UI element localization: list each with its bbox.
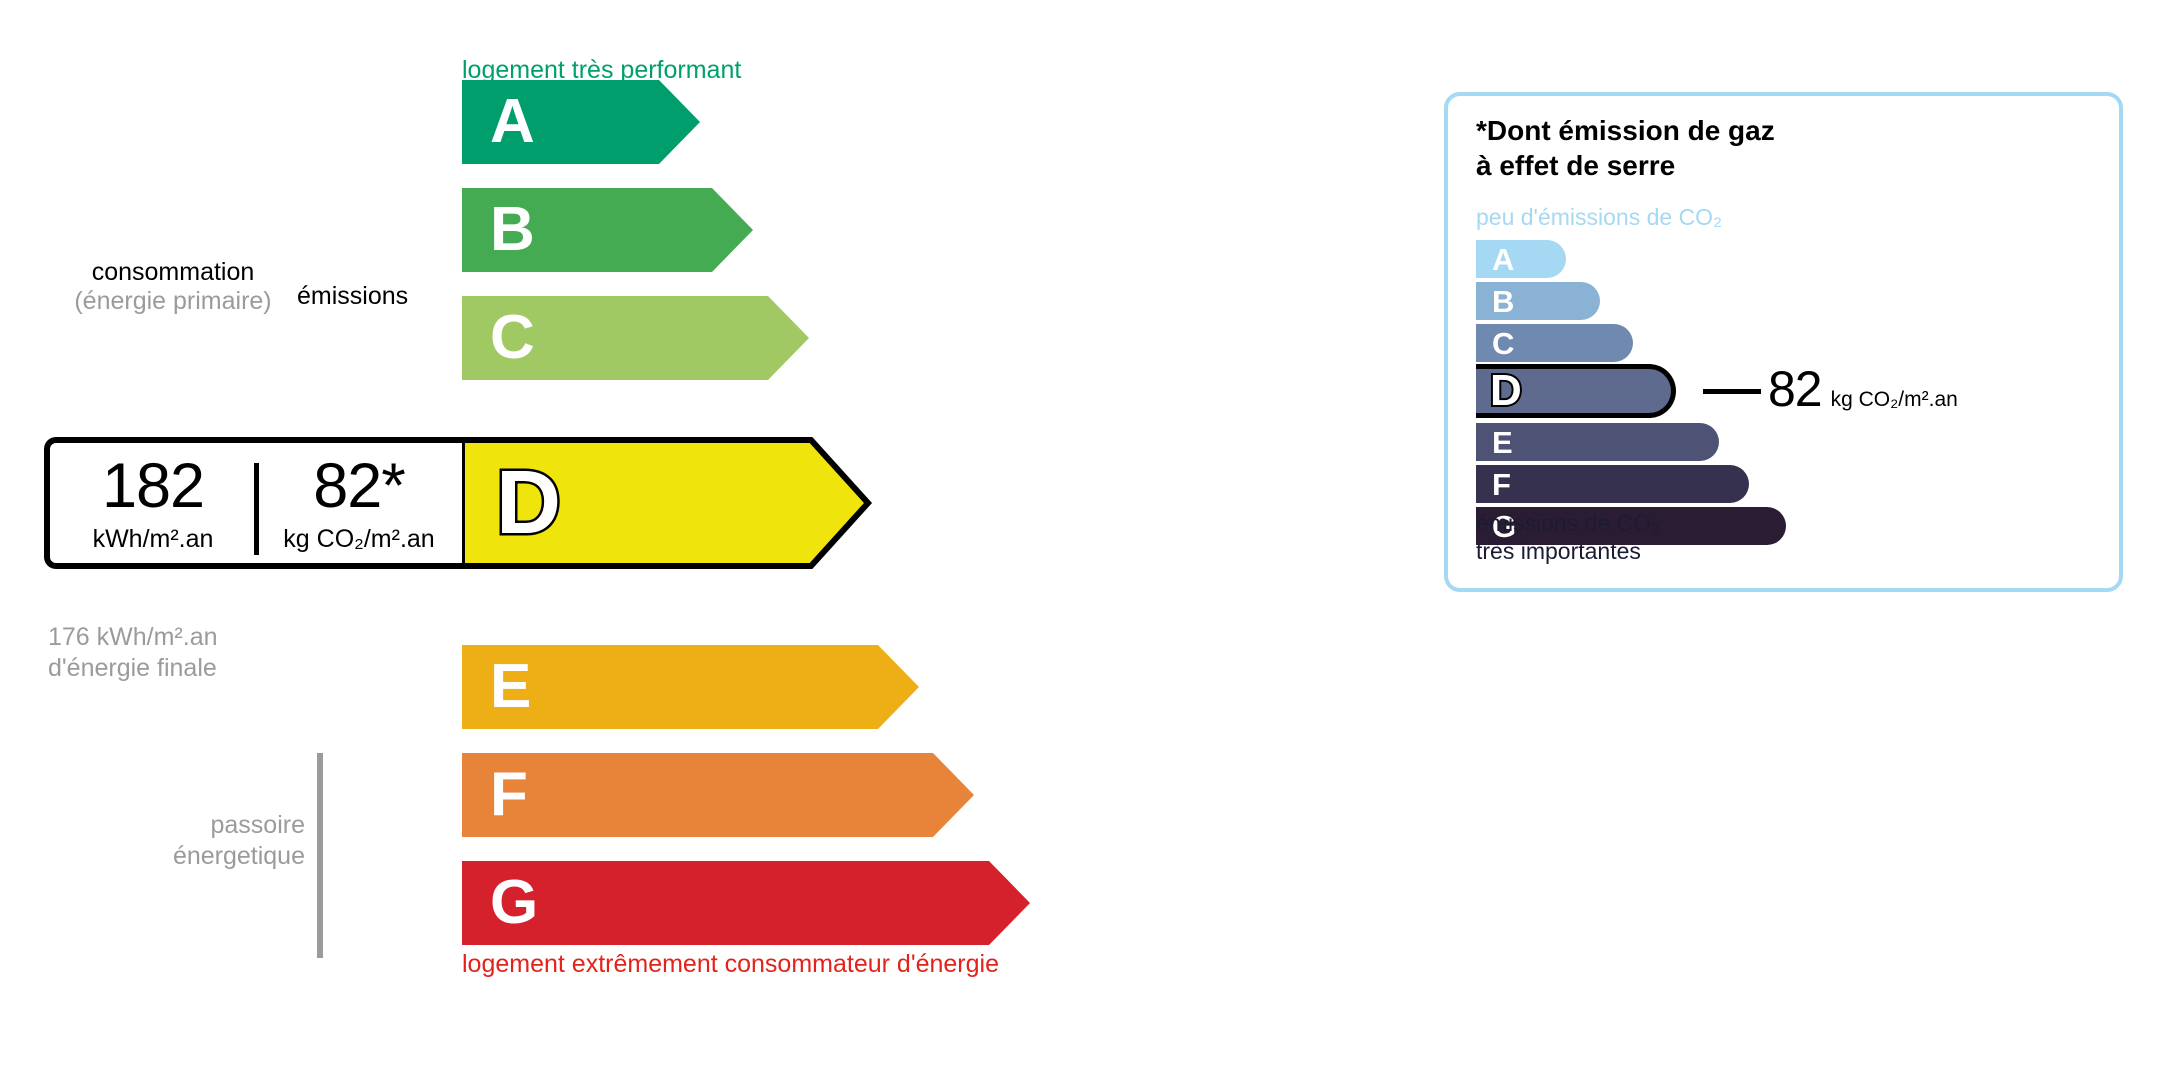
co2-letter-e: E [1492, 427, 1513, 458]
co2-letter-a: A [1492, 244, 1514, 275]
co2-title-line1: *Dont émission de gaz [1476, 114, 1775, 149]
co2-letter-b: B [1492, 286, 1514, 317]
energy-letter-b: B [490, 199, 535, 261]
co2-value-unit: kg CO₂/m².an [1831, 388, 1958, 412]
co2-letter-f: F [1492, 469, 1511, 500]
co2-bar-a: A [1476, 240, 1566, 278]
co2-bar-d-selected: D [1476, 364, 1676, 418]
co2-emissions-panel: *Dont émission de gaz à effet de serre p… [1444, 92, 2123, 592]
energy-arrow-g-shape [462, 861, 1030, 945]
energy-letter-c: C [490, 307, 535, 369]
final-energy-line2: d'énergie finale [48, 653, 218, 684]
energy-letter-d: D [496, 458, 561, 548]
energy-bar-a: A [462, 80, 700, 164]
co2-bottom-line1: émissions de CO₂ [1476, 509, 1660, 537]
dpe-label: logement très performant A B [0, 0, 2169, 1079]
primary-energy-unit: kWh/m².an [93, 527, 214, 552]
energy-bar-f: F [462, 753, 974, 837]
passoire-line1: passoire [130, 810, 305, 841]
energy-bar-e: E [462, 645, 919, 729]
co2-letter-d: D [1490, 369, 1522, 413]
co2-value: 82 [1768, 364, 1822, 414]
primary-energy-value-cell: 182 kWh/m².an [50, 443, 256, 563]
co2-top-caption: peu d'émissions de CO₂ [1476, 204, 1722, 231]
co2-value-leader-line [1703, 389, 1761, 394]
passoire-bracket-line [317, 753, 323, 958]
emissions-value-cell: 82* kg CO₂/m².an [256, 443, 462, 563]
energy-letter-a: A [490, 91, 535, 153]
energy-bar-g: G [462, 861, 1030, 945]
consumption-label-sub: (énergie primaire) [48, 287, 298, 316]
co2-bar-f: F [1476, 465, 1749, 503]
final-energy-note: 176 kWh/m².an d'énergie finale [48, 622, 218, 685]
co2-bottom-line2: très importantes [1476, 537, 1660, 565]
energy-bar-c: C [462, 296, 809, 380]
consumption-label: consommation (énergie primaire) [48, 258, 298, 316]
energy-performance-chart: logement très performant A B [0, 0, 1380, 1079]
primary-energy-value: 182 [102, 455, 204, 518]
energy-bar-b: B [462, 188, 753, 272]
energy-letter-f: F [490, 764, 528, 826]
energy-letter-g: G [490, 872, 538, 934]
co2-bar-c: C [1476, 324, 1633, 362]
emissions-value: 82* [313, 455, 405, 518]
co2-panel-title: *Dont émission de gaz à effet de serre [1476, 114, 1775, 183]
co2-title-line2: à effet de serre [1476, 149, 1775, 184]
energy-value-box: 182 kWh/m².an 82* kg CO₂/m².an [44, 437, 462, 569]
co2-bar-e: E [1476, 423, 1719, 461]
consumption-label-main: consommation [48, 258, 298, 287]
passoire-line2: énergetique [130, 841, 305, 872]
energy-letter-e: E [490, 656, 531, 718]
co2-value-callout: 82 kg CO₂/m².an [1768, 364, 1958, 414]
co2-bottom-caption: émissions de CO₂ très importantes [1476, 509, 1660, 565]
emissions-unit: kg CO₂/m².an [283, 527, 434, 552]
co2-bar-b: B [1476, 282, 1600, 320]
final-energy-line1: 176 kWh/m².an [48, 622, 218, 653]
co2-letter-c: C [1492, 328, 1514, 359]
emissions-label: émissions [297, 282, 408, 311]
energy-bottom-caption: logement extrêmement consommateur d'éner… [462, 950, 999, 979]
passoire-label: passoire énergetique [130, 810, 305, 873]
energy-arrow-f-shape [462, 753, 974, 837]
energy-bar-d-selected: D [462, 437, 874, 569]
